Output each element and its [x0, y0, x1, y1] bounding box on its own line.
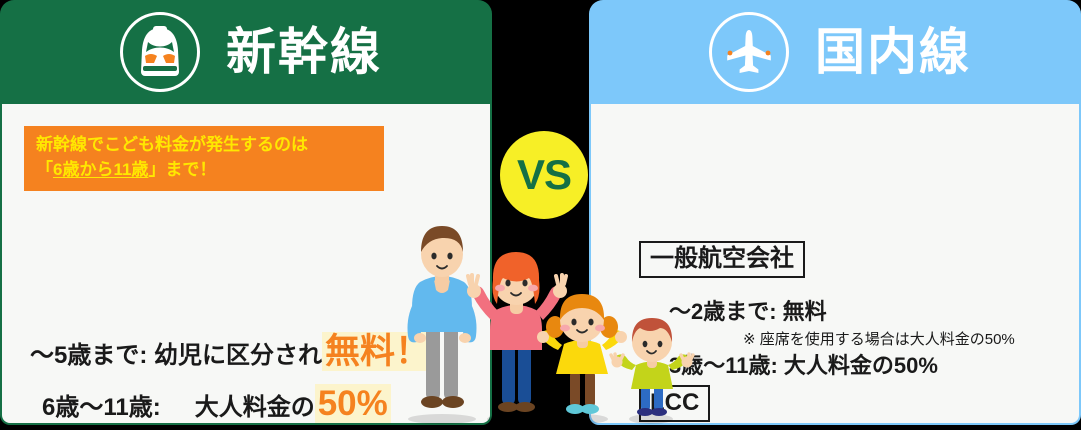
label-major-airline: 一般航空会社	[639, 241, 805, 278]
shinkansen-title: 新幹線	[226, 27, 382, 77]
shinkansen-header: 新幹線	[0, 0, 492, 104]
fare-row-6-to-11: 6歳〜11歳:大人料金の50%	[42, 386, 391, 422]
banner-line-1: 新幹線でこども料金が発生するのは	[36, 133, 372, 158]
fare-desc-under-5: 幼児に区分され	[154, 342, 322, 369]
fare-highlight-under-5: 無料！	[322, 332, 433, 371]
fare-label-under-5: 〜5歳まで:	[30, 342, 147, 369]
fare-desc-6-to-11: 大人料金の	[195, 394, 315, 421]
fare-highlight-6-to-11: 50%	[315, 384, 391, 423]
label-lcc: LCC	[639, 385, 710, 422]
shinkansen-body: 新幹線でこども料金が発生するのは 「6歳から11歳」まで！ 〜5歳まで: 幼児に…	[0, 104, 492, 425]
domestic-flight-header: 国内線	[589, 0, 1081, 104]
fare-label-6-to-11: 6歳〜11歳:	[42, 394, 161, 421]
shinkansen-card: 新幹線 新幹線でこども料金が発生するのは 「6歳から11歳」まで！ 〜5歳まで:…	[0, 0, 492, 425]
airline-fare-3-to-11: 3歳〜11歳: 大人料金の50%	[669, 348, 938, 380]
shinkansen-train-icon	[120, 12, 200, 92]
domestic-flight-card: 国内線 一般航空会社 〜2歳まで: 無料 ※ 座席を使用する場合は大人料金の50…	[589, 0, 1081, 425]
fare-row-under-5: 〜5歳まで: 幼児に区分され無料！	[30, 334, 433, 370]
airline-note-seat: ※ 座席を使用する場合は大人料金の50%	[743, 328, 1015, 349]
domestic-flight-body: 一般航空会社 〜2歳まで: 無料 ※ 座席を使用する場合は大人料金の50% 3歳…	[589, 104, 1081, 425]
vs-label: VS	[517, 154, 571, 196]
banner-line-2: 「6歳から11歳」まで！	[36, 158, 372, 183]
airline-fare-under-2: 〜2歳まで: 無料	[669, 294, 827, 326]
banner-quote-close: 」まで！	[148, 160, 216, 179]
shinkansen-banner: 新幹線でこども料金が発生するのは 「6歳から11歳」まで！	[24, 126, 384, 191]
banner-quote-open: 「	[36, 160, 53, 179]
domestic-flight-title: 国内線	[815, 27, 971, 77]
vs-badge: VS	[500, 131, 588, 219]
airplane-icon	[709, 12, 789, 92]
banner-age-range: 6歳から11歳	[53, 160, 148, 179]
